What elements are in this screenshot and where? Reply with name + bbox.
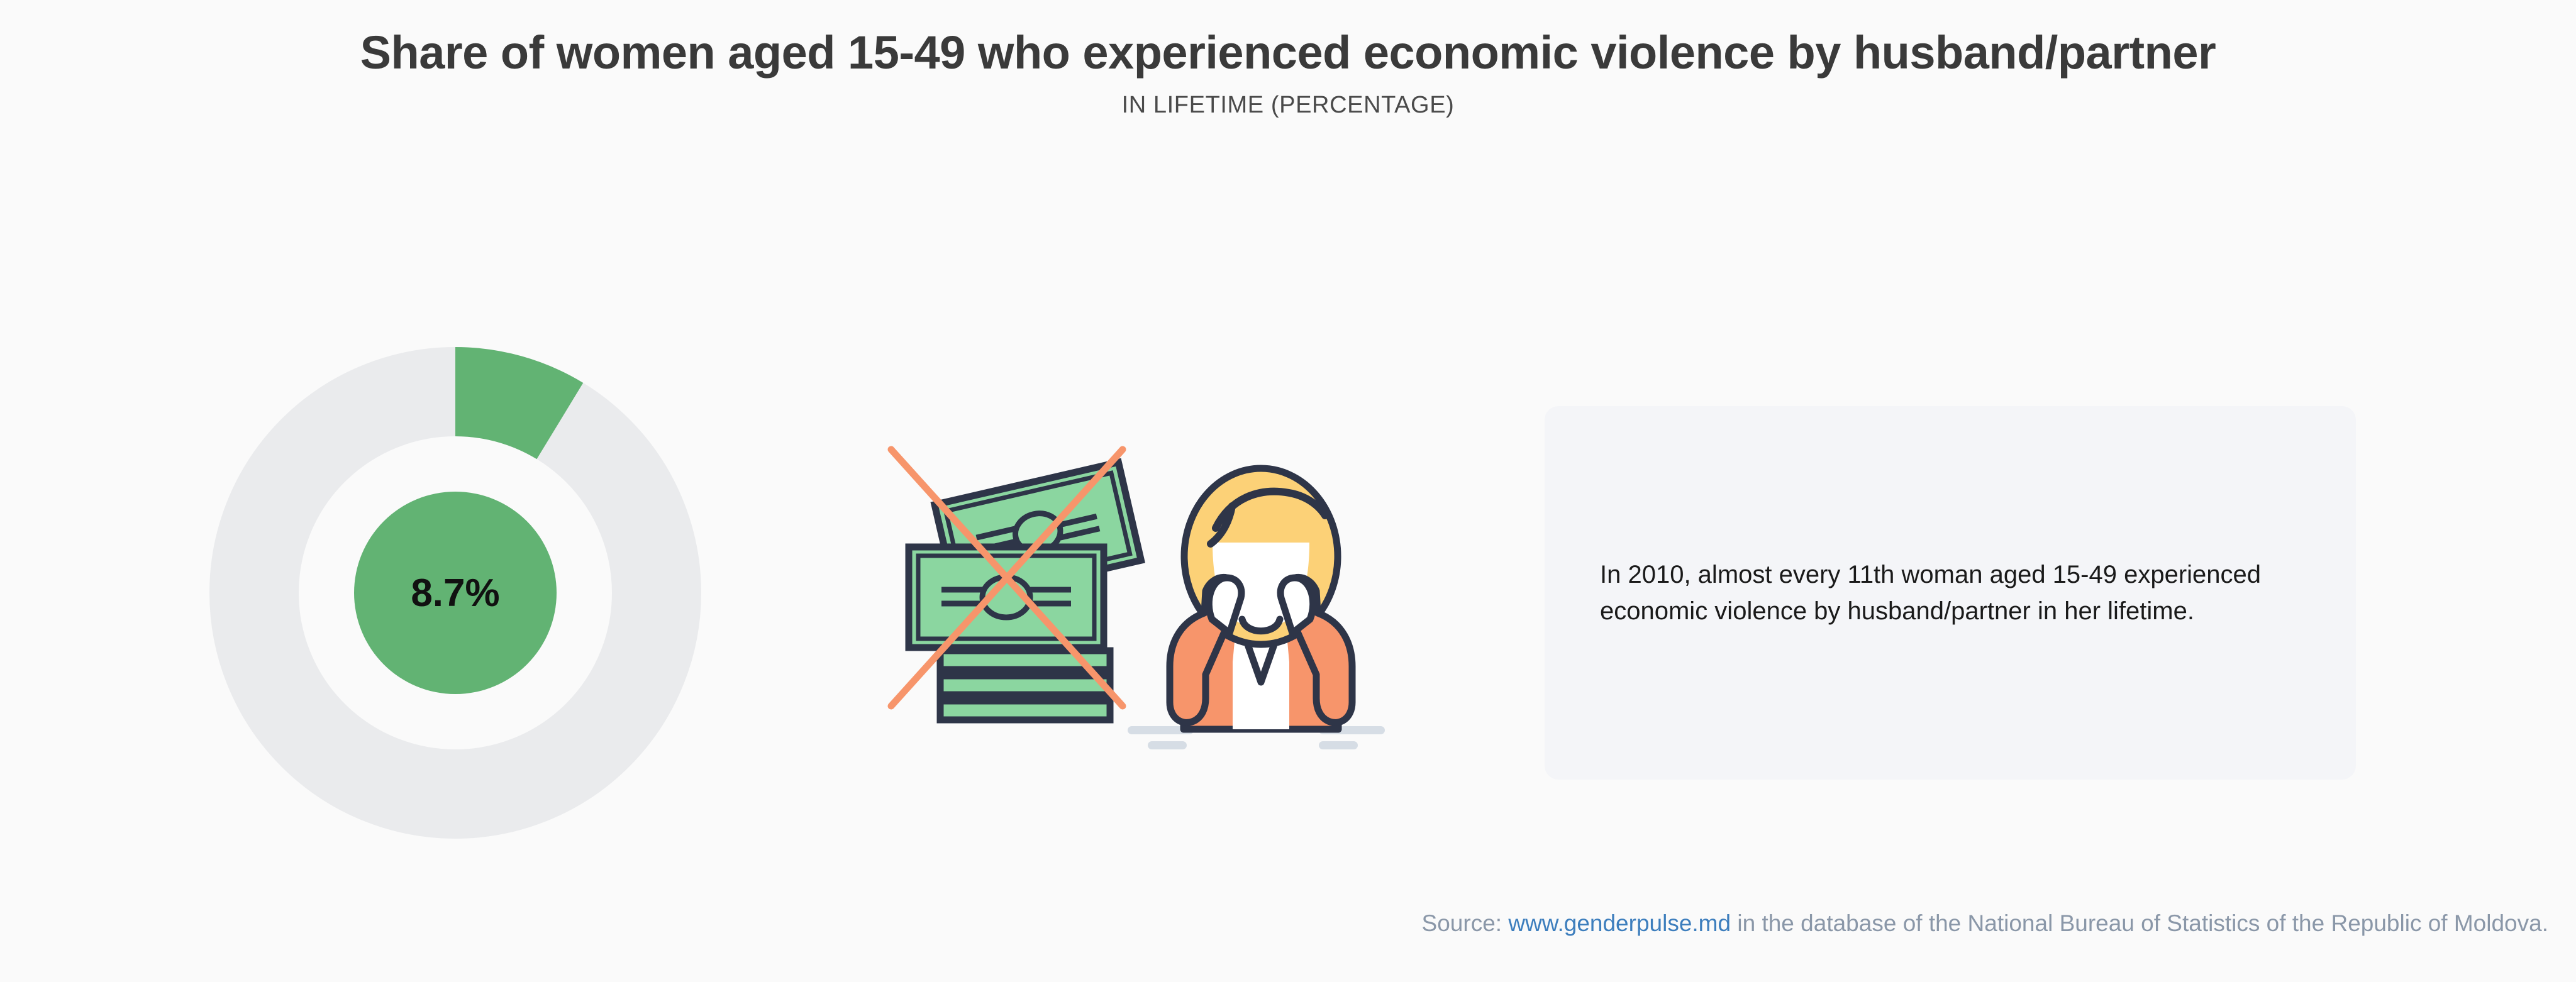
donut-inner-circle: [354, 492, 557, 694]
money-icon: [909, 462, 1141, 720]
donut-chart-svg: [209, 347, 701, 839]
source-prefix: Source:: [1422, 910, 1509, 936]
source-link[interactable]: www.genderpulse.md: [1508, 910, 1731, 936]
note-text: In 2010, almost every 11th woman aged 15…: [1545, 556, 2356, 629]
source-footer: Source: www.genderpulse.md in the databa…: [0, 910, 2576, 937]
donut-chart: 8.7%: [209, 347, 701, 839]
distressed-woman-icon: [1170, 468, 1352, 729]
donut-value-arc: [455, 392, 560, 421]
header: Share of women aged 15-49 who experience…: [0, 24, 2576, 119]
illustration-svg: [852, 412, 1418, 764]
page-subtitle: IN LIFETIME (PERCENTAGE): [0, 92, 2576, 119]
source-suffix: in the database of the National Bureau o…: [1731, 910, 2548, 936]
note-card: In 2010, almost every 11th woman aged 15…: [1545, 406, 2356, 780]
illustration: [852, 412, 1418, 764]
page-title: Share of women aged 15-49 who experience…: [219, 24, 2357, 82]
